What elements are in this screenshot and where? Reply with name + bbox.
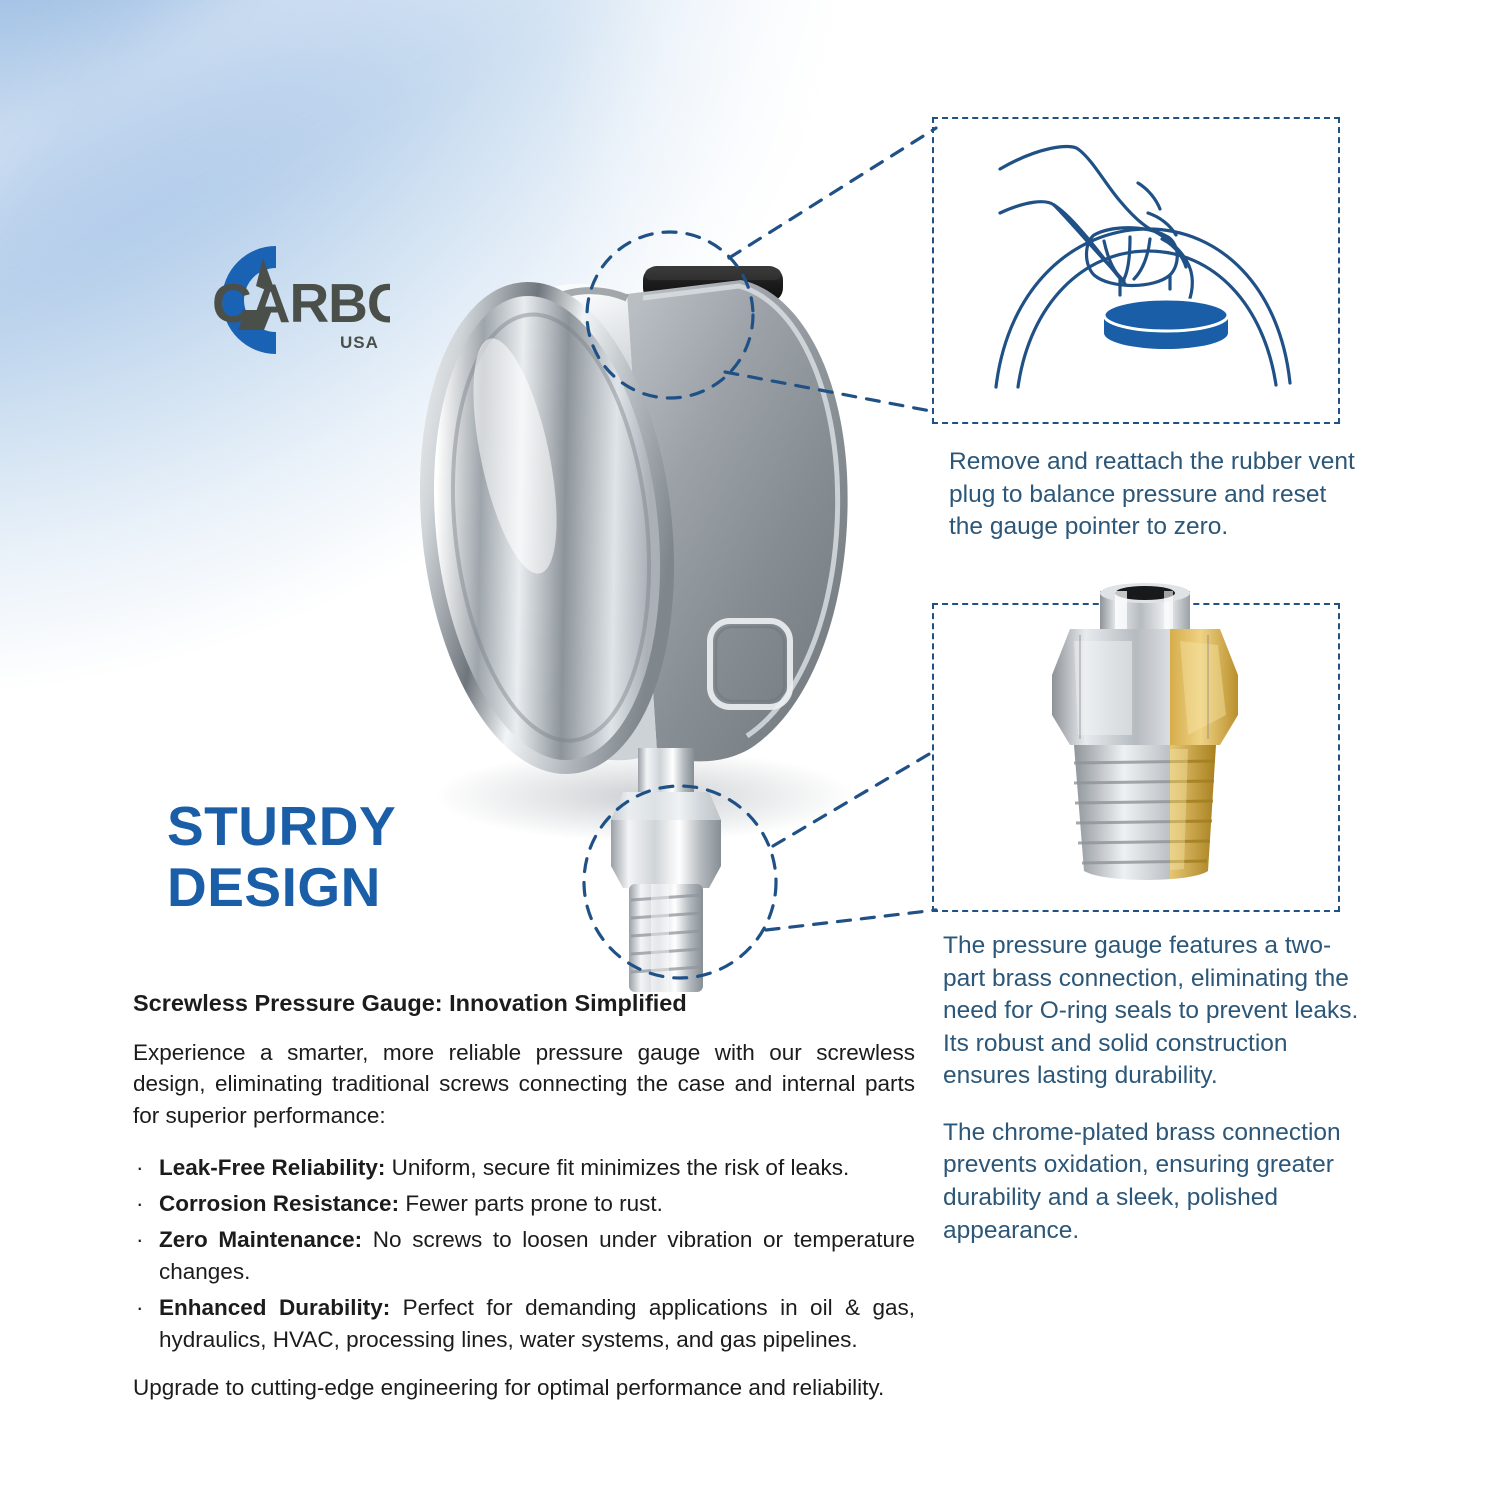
headline-line-1: STURDY (167, 795, 396, 857)
bullet-marker: · (136, 1152, 144, 1184)
hand-removing-vent-plug-icon (934, 119, 1338, 422)
bullet-term: Corrosion Resistance: (159, 1191, 399, 1216)
list-item: · Zero Maintenance: No screws to loosen … (133, 1224, 915, 1288)
brass-caption-line-2: Its robust and solid construction ensure… (943, 1028, 1363, 1093)
list-item: · Enhanced Durability: Perfect for deman… (133, 1292, 915, 1356)
lead-paragraph: Experience a smarter, more reliable pres… (133, 1037, 915, 1133)
bullet-term: Zero Maintenance: (159, 1227, 362, 1252)
closing-paragraph: Upgrade to cutting-edge engineering for … (133, 1372, 915, 1404)
page-headline: STURDY DESIGN (167, 796, 587, 917)
brass-caption-line-1: The pressure gauge features a two-part b… (943, 930, 1363, 1028)
callout-caption-brass-connection: The pressure gauge features a two-part b… (943, 930, 1363, 1247)
callout-caption-vent-plug: Remove and reattach the rubber vent plug… (949, 446, 1359, 544)
left-text-column: Screwless Pressure Gauge: Innovation Sim… (133, 988, 915, 1404)
bullet-desc: Uniform, secure fit minimizes the risk o… (385, 1155, 849, 1180)
logo-sub: USA (340, 333, 379, 352)
rubber-vent-plug-disc (1104, 299, 1228, 349)
callout-box-vent-plug (932, 117, 1340, 424)
list-item: · Leak-Free Reliability: Uniform, secure… (133, 1152, 915, 1184)
chrome-brass-hex-fitting-image (934, 605, 1338, 910)
bullet-term: Enhanced Durability: (159, 1295, 390, 1320)
brand-logo: CARBO USA (168, 236, 390, 364)
headline-line-2: DESIGN (167, 857, 587, 918)
section-title: Screwless Pressure Gauge: Innovation Sim… (133, 988, 915, 1019)
list-item: · Corrosion Resistance: Fewer parts pron… (133, 1188, 915, 1220)
bullet-desc: Fewer parts prone to rust. (399, 1191, 663, 1216)
bullet-term: Leak-Free Reliability: (159, 1155, 385, 1180)
logo-wordmark: CARBO (212, 272, 390, 334)
infographic-page: CARBO USA (0, 0, 1500, 1500)
callout-box-brass-connection (932, 603, 1340, 912)
bullet-marker: · (136, 1224, 144, 1256)
bullet-marker: · (136, 1188, 144, 1220)
brass-caption-line-3: The chrome-plated brass connection preve… (943, 1117, 1363, 1247)
feature-bullet-list: · Leak-Free Reliability: Uniform, secure… (133, 1152, 915, 1356)
bullet-marker: · (136, 1292, 144, 1324)
